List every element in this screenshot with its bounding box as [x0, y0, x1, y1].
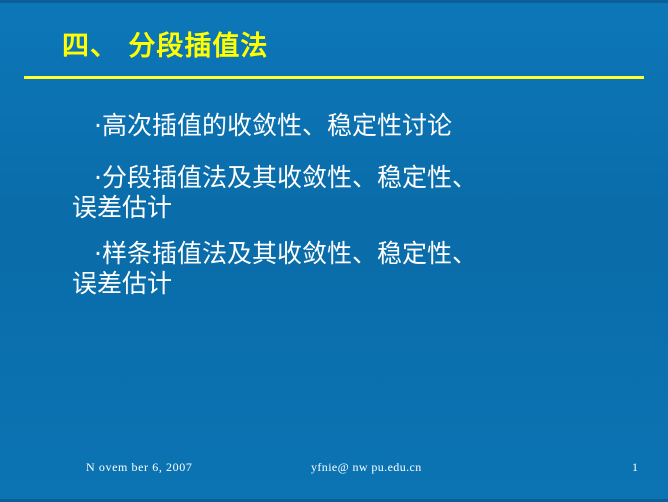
- bullet-marker-3: ·: [94, 239, 102, 268]
- footer-date: N ovem ber 6, 2007: [86, 460, 192, 475]
- bullet-marker-2: ·: [94, 163, 102, 192]
- slide-title: 四、 分段插值法: [62, 24, 268, 63]
- title-divider: [24, 76, 644, 79]
- slide-top-edge: [0, 0, 668, 3]
- footer-page-number: 1: [632, 460, 638, 475]
- bullet-item-2-continuation: 误差估计: [72, 192, 632, 224]
- slide-body: ·高次插值的收敛性、稳定性讨论 ·分段插值法及其收敛性、稳定性、 误差估计 ·样…: [72, 104, 632, 300]
- slide-footer: N ovem ber 6, 2007 yfnie@ nw pu.edu.cn 1: [0, 460, 668, 478]
- bullet-text-2: 分段插值法及其收敛性、稳定性、: [102, 163, 477, 192]
- bullet-marker-1: ·: [94, 111, 102, 140]
- bullet-item-1: ·高次插值的收敛性、稳定性讨论: [72, 110, 632, 142]
- bullet-item-2: ·分段插值法及其收敛性、稳定性、: [72, 162, 632, 194]
- bullet-text-1: 高次插值的收敛性、稳定性讨论: [102, 111, 452, 140]
- bullet-text-3: 样条插值法及其收敛性、稳定性、: [102, 239, 477, 268]
- bullet-item-3-continuation: 误差估计: [72, 268, 632, 300]
- slide: 四、 分段插值法 ·高次插值的收敛性、稳定性讨论 ·分段插值法及其收敛性、稳定性…: [0, 0, 668, 502]
- bullet-item-3: ·样条插值法及其收敛性、稳定性、: [72, 238, 632, 270]
- footer-email: yfnie@ nw pu.edu.cn: [311, 460, 422, 475]
